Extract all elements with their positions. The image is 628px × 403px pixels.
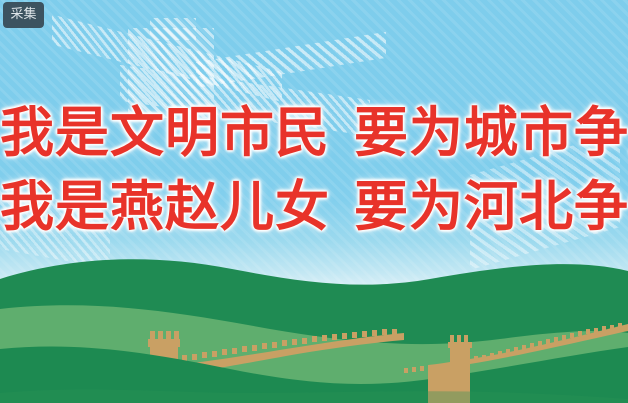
rolling-green-hills [0,243,628,403]
headline-line-1-left: 我是文明市民 [0,101,330,164]
headline-block: 我是文明市民要为城市争光 我是燕赵儿女要为河北争气 [0,96,628,244]
headline-line-2-left: 我是燕赵儿女 [0,175,330,238]
headline-line-2: 我是燕赵儿女要为河北争气 [0,170,628,244]
headline-line-1: 我是文明市民要为城市争光 [0,96,628,170]
headline-line-2-right: 要为河北争气 [354,175,628,238]
watermark-wall-tower-top [150,18,196,40]
poster-banner: 我是文明市民要为城市争光 我是燕赵儿女要为河北争气 采集 [0,0,628,403]
capture-button[interactable]: 采集 [3,2,44,28]
headline-line-1-right: 要为城市争光 [354,101,628,164]
